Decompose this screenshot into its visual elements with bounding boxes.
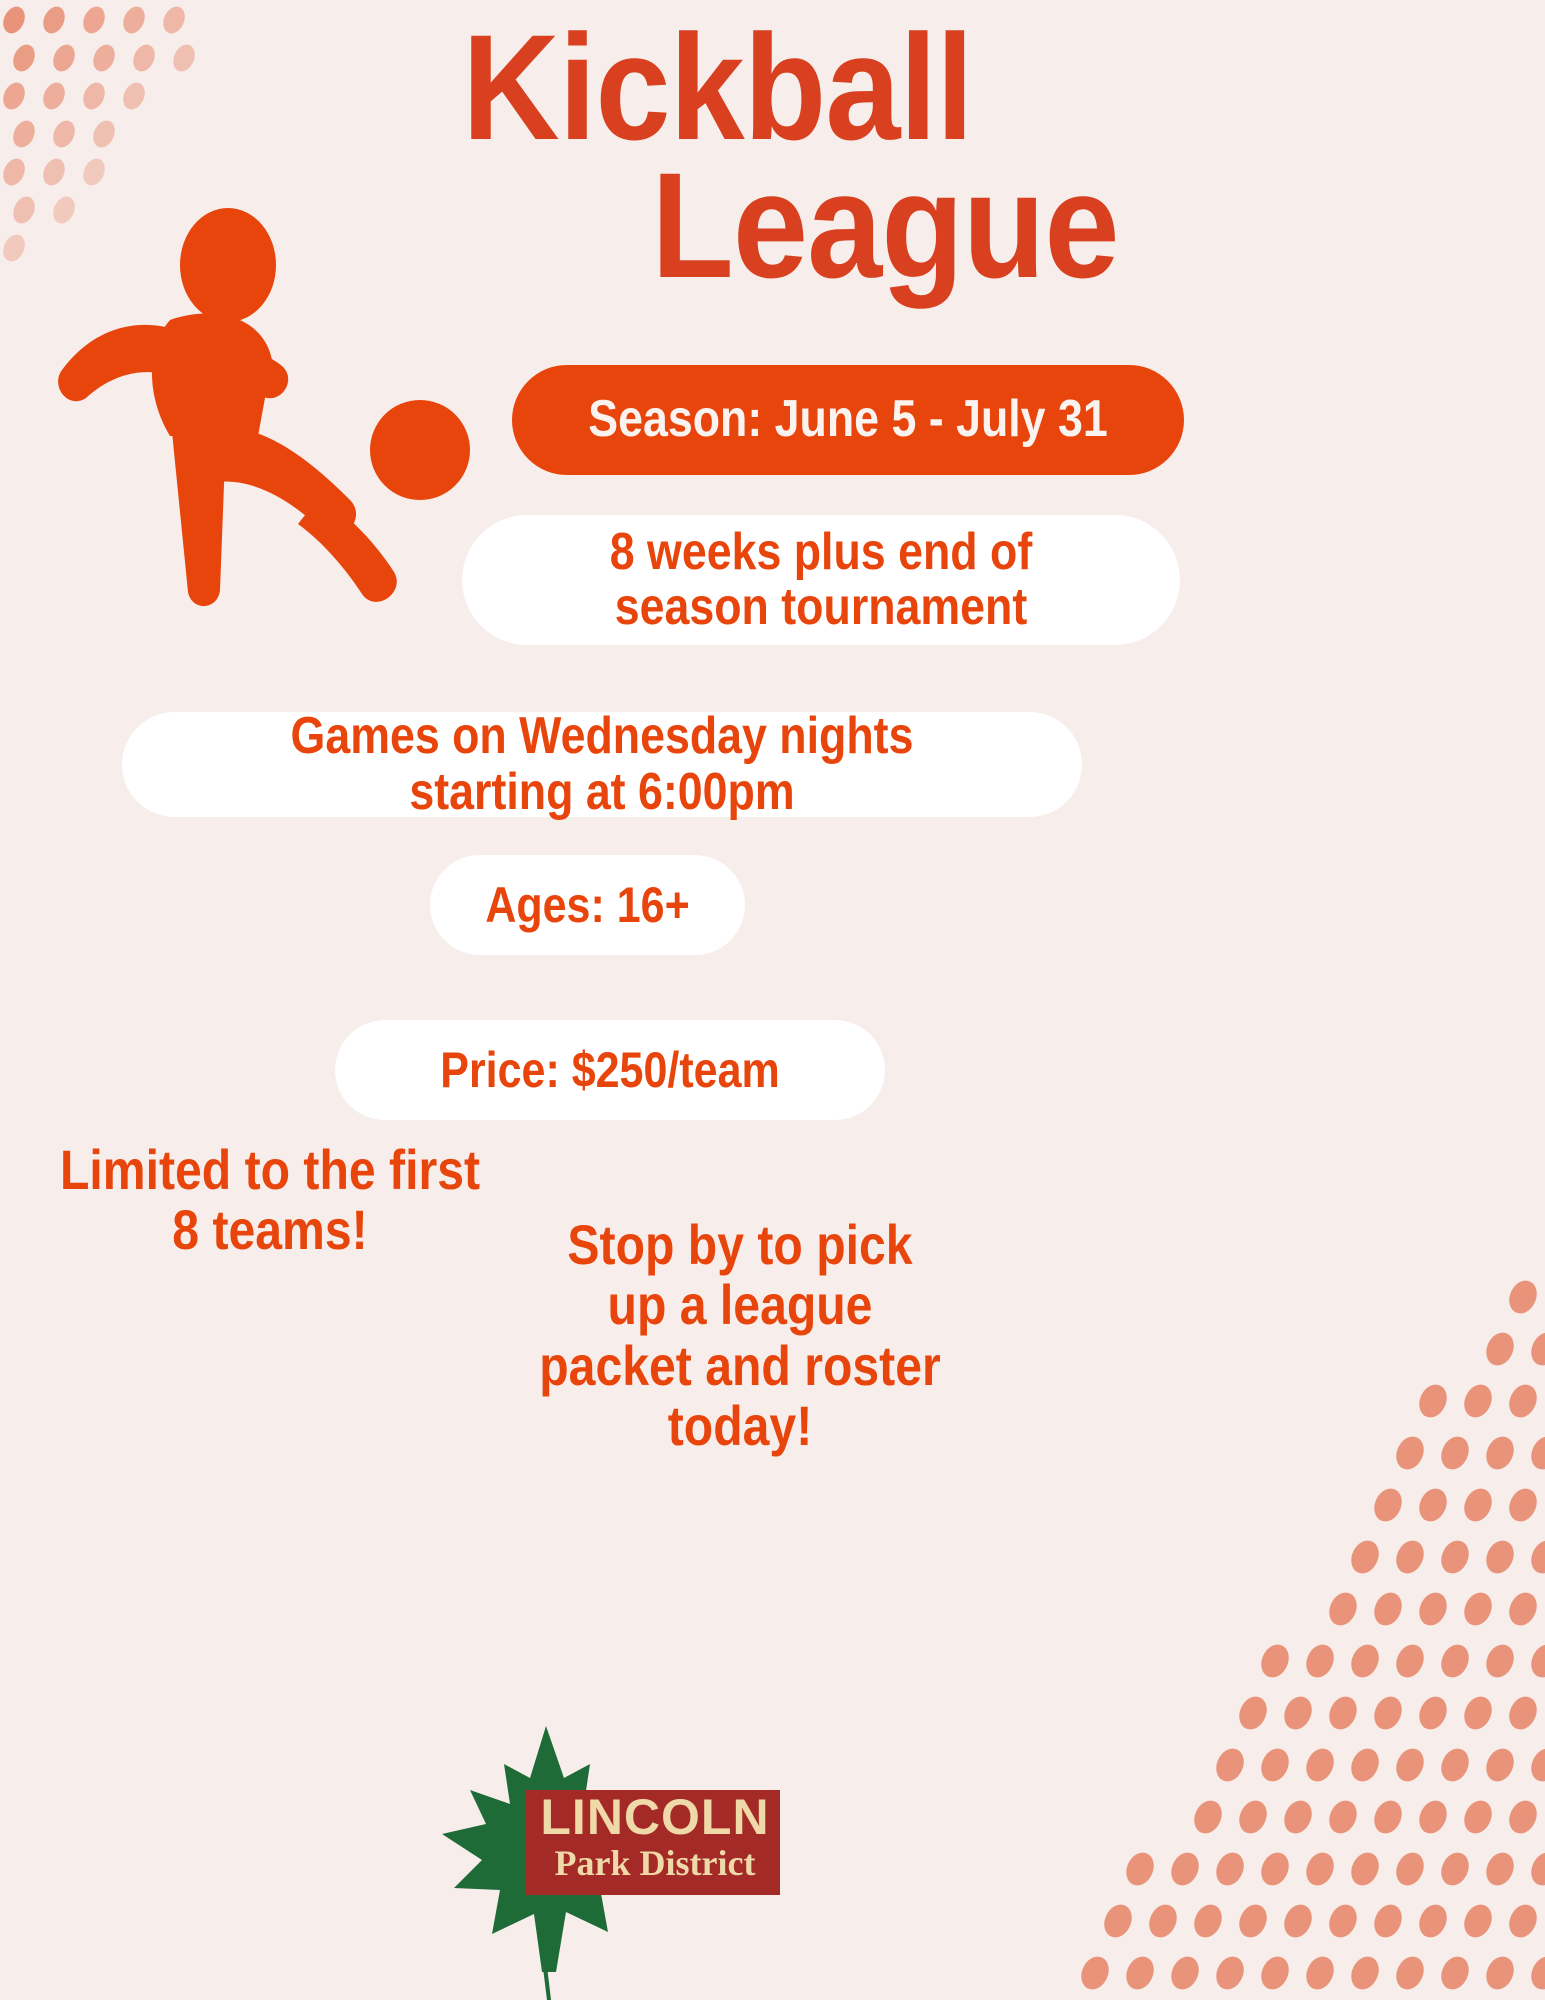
pill-games: Games on Wednesday nights starting at 6:… [122, 712, 1082, 817]
decorative-dot [1414, 1796, 1452, 1838]
decorative-dot [1121, 1848, 1159, 1890]
decorative-dot [1189, 1796, 1227, 1838]
decorative-dot [1504, 1484, 1542, 1526]
decorative-dot [1211, 1952, 1249, 1994]
decorative-dot [1481, 1640, 1519, 1682]
decorative-dot [1459, 1380, 1497, 1422]
decorative-dot [1436, 1536, 1474, 1578]
decorative-dot [1256, 1744, 1294, 1786]
decorative-dot [1211, 1744, 1249, 1786]
decorative-dot [1526, 1328, 1545, 1370]
decorative-dot [1346, 1744, 1384, 1786]
decorative-dot [1414, 1380, 1452, 1422]
decorative-dot [1369, 1692, 1407, 1734]
decorative-dot [1099, 1900, 1137, 1942]
pill-weeks-label: 8 weeks plus end of season tournament [547, 525, 1096, 635]
decorative-dot [1301, 1744, 1339, 1786]
decorative-dot [1369, 1796, 1407, 1838]
decorative-dot [1481, 1432, 1519, 1474]
decorative-dot [1324, 1692, 1362, 1734]
decorative-dot [1166, 1952, 1204, 1994]
decorative-dot [1436, 1640, 1474, 1682]
decorative-dot [1526, 1848, 1545, 1890]
decorative-dot [1346, 1640, 1384, 1682]
decorative-dot [1391, 1640, 1429, 1682]
decorative-dot [1324, 1588, 1362, 1630]
decorative-dot [1391, 1744, 1429, 1786]
decorative-dot [1256, 1848, 1294, 1890]
decorative-dot [1436, 1952, 1474, 1994]
decorative-dot [1459, 1692, 1497, 1734]
decorative-dot [1504, 1380, 1542, 1422]
copy-stop-by-text: Stop by to pick up a league packet and r… [538, 1215, 942, 1457]
decorative-dot [1481, 1744, 1519, 1786]
decorative-dot [1166, 1848, 1204, 1890]
decorative-dot [1414, 1900, 1452, 1942]
decorative-dot [1301, 1952, 1339, 1994]
pill-season: Season: June 5 - July 31 [512, 365, 1184, 475]
decorative-dot [1234, 1692, 1272, 1734]
title-line-1: Kickball [0, 18, 1462, 156]
decorative-dot [1504, 1796, 1542, 1838]
pill-weeks: 8 weeks plus end of season tournament [462, 515, 1180, 645]
pill-ages-label: Ages: 16+ [452, 879, 723, 932]
decorative-dot [1076, 1952, 1114, 1994]
decorative-dot [1526, 1640, 1545, 1682]
decorative-dot [1436, 1432, 1474, 1474]
decorative-dot [1414, 1692, 1452, 1734]
decorative-dot [1346, 1848, 1384, 1890]
decorative-dot [1481, 1328, 1519, 1370]
decorative-dot [1526, 1952, 1545, 1994]
logo-park-district-text: Park District [530, 1842, 780, 1884]
decorative-dot [1279, 1796, 1317, 1838]
decorative-dot [1504, 1692, 1542, 1734]
pill-games-label: Games on Wednesday nights starting at 6:… [215, 709, 989, 819]
copy-stop-by: Stop by to pick up a league packet and r… [505, 1215, 975, 1457]
decorative-dot [1391, 1432, 1429, 1474]
decorative-dot [1504, 1276, 1542, 1318]
decorative-dot [1189, 1900, 1227, 1942]
decorative-dot [1369, 1900, 1407, 1942]
lincoln-park-district-logo: LINCOLN Park District [430, 1710, 820, 2000]
decorative-dot [1526, 1744, 1545, 1786]
logo-lincoln-text: LINCOLN [530, 1788, 780, 1846]
decorative-dot [1504, 1900, 1542, 1942]
decorative-dot [1526, 1432, 1545, 1474]
decorative-dot [1459, 1588, 1497, 1630]
decorative-dot [1459, 1484, 1497, 1526]
pill-price-label: Price: $250/team [374, 1044, 847, 1097]
decorative-dot [1391, 1952, 1429, 1994]
decorative-dot [1436, 1744, 1474, 1786]
decorative-dot [1279, 1692, 1317, 1734]
poster-canvas: Kickball League [0, 0, 1545, 2000]
decorative-dot [1481, 1536, 1519, 1578]
decorative-dot [1369, 1484, 1407, 1526]
decorative-dot [1504, 1588, 1542, 1630]
decorative-dot [1301, 1640, 1339, 1682]
decorative-dot [1234, 1900, 1272, 1942]
decorative-dot [1481, 1848, 1519, 1890]
pill-price: Price: $250/team [335, 1020, 885, 1120]
decorative-dot [1211, 1848, 1249, 1890]
decorative-dot [1324, 1796, 1362, 1838]
decorative-dot [1459, 1796, 1497, 1838]
decorative-dot [1256, 1952, 1294, 1994]
decorative-dot [1256, 1640, 1294, 1682]
decorative-dot [1414, 1588, 1452, 1630]
decorative-dot [1414, 1484, 1452, 1526]
decorative-dot [1324, 1900, 1362, 1942]
decorative-dot [1459, 1900, 1497, 1942]
decorative-dot [1121, 1952, 1159, 1994]
decorative-dot [1369, 1588, 1407, 1630]
decorative-dot [1234, 1796, 1272, 1838]
decorative-dot [1346, 1952, 1384, 1994]
decorative-dot [1144, 1900, 1182, 1942]
pill-ages: Ages: 16+ [430, 855, 745, 955]
decorative-dot [1346, 1536, 1384, 1578]
decorative-dot [1301, 1848, 1339, 1890]
pill-season-label: Season: June 5 - July 31 [559, 392, 1137, 447]
kickball-player-icon [20, 200, 490, 670]
decorative-dot [1526, 1536, 1545, 1578]
halftone-dots-bottom-right [1025, 1280, 1545, 2000]
decorative-dot [1391, 1848, 1429, 1890]
decorative-dot [1436, 1848, 1474, 1890]
decorative-dot [1391, 1536, 1429, 1578]
decorative-dot [1279, 1900, 1317, 1942]
decorative-dot [1481, 1952, 1519, 1994]
copy-limited-teams-text: Limited to the first 8 teams! [46, 1140, 493, 1261]
copy-limited-teams: Limited to the first 8 teams! [10, 1140, 530, 1261]
